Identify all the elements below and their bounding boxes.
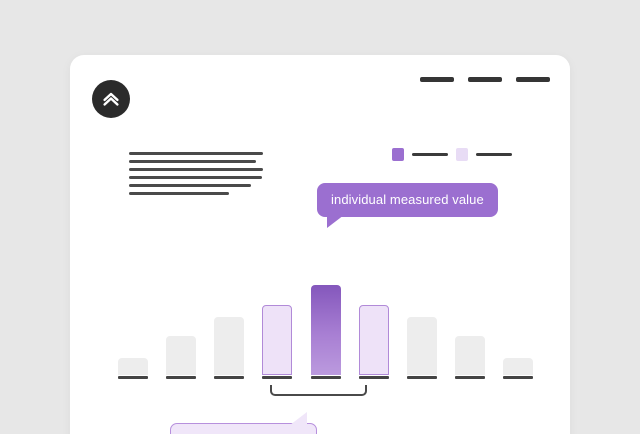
text-line: [129, 160, 256, 163]
bar-slot[interactable]: [455, 336, 485, 379]
chevron-up-icon: [100, 88, 122, 110]
brand-logo[interactable]: [92, 80, 130, 118]
bar-baseline: [407, 376, 437, 379]
bar-baseline: [311, 376, 341, 379]
bar-slot[interactable]: [214, 317, 244, 379]
bar-6-range-high[interactable]: [359, 305, 389, 375]
range-bracket: [270, 385, 367, 396]
bar-9[interactable]: [503, 358, 533, 375]
text-line: [129, 152, 263, 155]
bar-1[interactable]: [118, 358, 148, 375]
nav-item-3[interactable]: [516, 77, 550, 82]
bar-8[interactable]: [455, 336, 485, 375]
bar-7[interactable]: [407, 317, 437, 375]
legend-label-measured: [412, 153, 448, 156]
bar-baseline: [503, 376, 533, 379]
bar-baseline: [166, 376, 196, 379]
bar-5-measured-value[interactable]: [311, 285, 341, 375]
text-line: [129, 184, 251, 187]
nav-item-2[interactable]: [468, 77, 502, 82]
text-line: [129, 192, 229, 195]
bar-4-range-low[interactable]: [262, 305, 292, 375]
tooltip-individual-measured-value: individual measured value: [317, 183, 498, 217]
legend-swatch-range: [456, 148, 468, 161]
bar-slot[interactable]: [503, 358, 533, 379]
bar-3[interactable]: [214, 317, 244, 375]
chart-legend: [392, 148, 512, 161]
placeholder-text-block: [129, 152, 263, 195]
text-line: [129, 168, 263, 171]
nav-item-1[interactable]: [420, 77, 454, 82]
legend-swatch-measured: [392, 148, 404, 161]
text-line: [129, 176, 262, 179]
bar-slot[interactable]: [311, 285, 341, 379]
legend-label-range: [476, 153, 512, 156]
bar-2[interactable]: [166, 336, 196, 375]
bar-slot[interactable]: [166, 336, 196, 379]
bar-slot[interactable]: [359, 305, 389, 379]
legend-item-range[interactable]: [456, 148, 512, 161]
bar-slot[interactable]: [262, 305, 292, 379]
tooltip-top-performer-range: top performer range: [170, 423, 317, 434]
bar-baseline: [214, 376, 244, 379]
bar-baseline: [455, 376, 485, 379]
bar-baseline: [262, 376, 292, 379]
top-nav: [420, 77, 550, 82]
bar-baseline: [359, 376, 389, 379]
bar-baseline: [118, 376, 148, 379]
legend-item-measured[interactable]: [392, 148, 448, 161]
bar-slot[interactable]: [118, 358, 148, 379]
bar-chart: [118, 269, 533, 379]
dashboard-card: individual measured value: [70, 55, 570, 434]
bar-slot[interactable]: [407, 317, 437, 379]
